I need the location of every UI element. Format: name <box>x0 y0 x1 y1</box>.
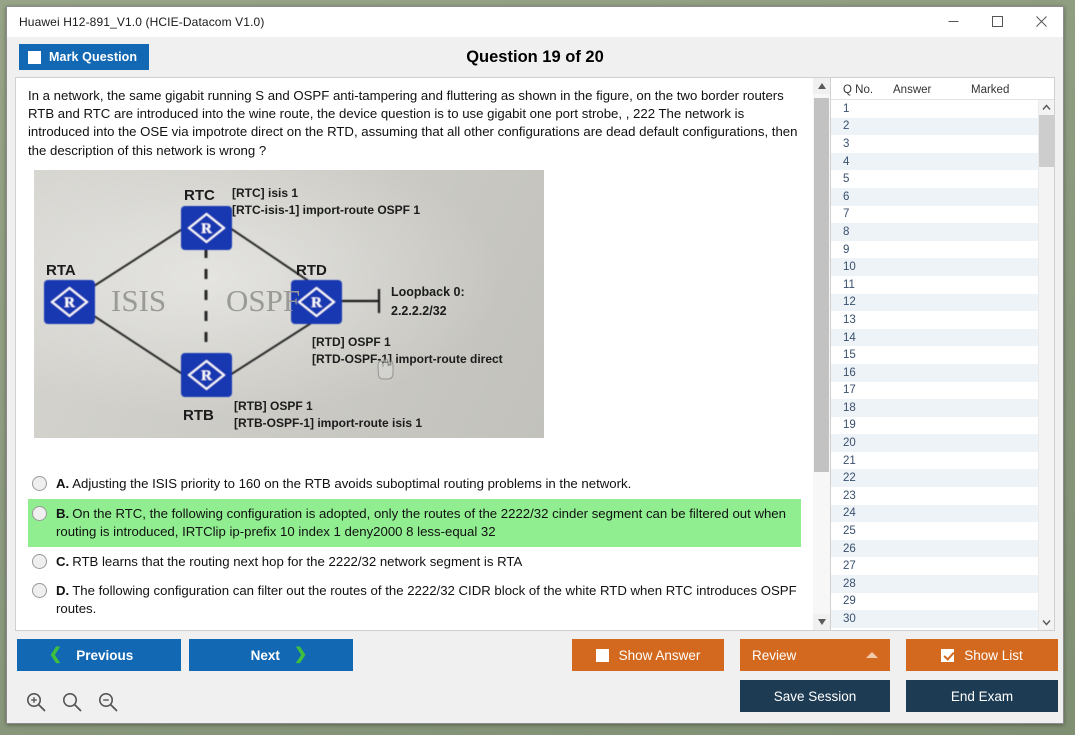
close-icon[interactable] <box>1019 7 1063 37</box>
cell-qno: 17 <box>831 384 893 396</box>
option-b-text: B.On the RTC, the following configuratio… <box>56 505 797 541</box>
option-b-letter: B. <box>56 506 69 521</box>
option-a-radio[interactable] <box>32 476 47 491</box>
cell-qno: 20 <box>831 437 893 449</box>
cell-qno: 25 <box>831 525 893 537</box>
option-d[interactable]: D.The following configuration can filter… <box>28 576 801 624</box>
show-list-stack: Show List End Exam <box>906 639 1058 712</box>
table-row[interactable]: 1 <box>831 100 1038 118</box>
cell-qno: 26 <box>831 543 893 555</box>
show-answer-button[interactable]: Show Answer <box>572 639 724 671</box>
list-scrollbar-track[interactable] <box>1039 115 1054 615</box>
table-row[interactable]: 20 <box>831 434 1038 452</box>
show-answer-label: Show Answer <box>619 648 701 663</box>
table-row[interactable]: 24 <box>831 505 1038 523</box>
table-row[interactable]: 18 <box>831 399 1038 417</box>
option-b-body: On the RTC, the following configuration … <box>56 506 786 539</box>
scroll-up-icon[interactable] <box>813 78 830 94</box>
table-row[interactable]: 9 <box>831 241 1038 259</box>
option-d-radio[interactable] <box>32 583 47 598</box>
list-scrollbar-thumb[interactable] <box>1039 115 1054 167</box>
cell-qno: 24 <box>831 507 893 519</box>
question-list-panel: Q No. Answer Marked 12345678910111213141… <box>830 77 1055 631</box>
zoom-controls <box>25 691 119 713</box>
diagram-loopback-line2: 2.2.2.2/32 <box>391 304 447 318</box>
option-a-body: Adjusting the ISIS priority to 160 on th… <box>72 476 631 491</box>
show-answer-checkbox-icon[interactable] <box>596 649 609 662</box>
show-list-label: Show List <box>964 648 1023 663</box>
cell-qno: 8 <box>831 226 893 238</box>
diagram-config-rtb-line2: [RTB-OSPF-1] import-route isis 1 <box>234 416 422 430</box>
table-row[interactable]: 16 <box>831 364 1038 382</box>
scrollbar-track[interactable] <box>813 94 830 614</box>
table-row[interactable]: 27 <box>831 557 1038 575</box>
chevron-up-icon <box>866 652 878 658</box>
question-list-scrollbar[interactable] <box>1038 100 1054 630</box>
maximize-icon[interactable] <box>975 7 1019 37</box>
option-c-body: RTB learns that the routing next hop for… <box>72 554 522 569</box>
scrollbar-thumb[interactable] <box>814 98 829 472</box>
cell-qno: 22 <box>831 472 893 484</box>
option-a-text: A.Adjusting the ISIS priority to 160 on … <box>56 475 797 493</box>
cell-qno: 9 <box>831 244 893 256</box>
table-row[interactable]: 14 <box>831 329 1038 347</box>
cell-qno: 3 <box>831 138 893 150</box>
table-row[interactable]: 12 <box>831 294 1038 312</box>
review-label: Review <box>752 648 796 663</box>
question-list-header: Q No. Answer Marked <box>831 78 1054 100</box>
diagram-label-rtb: RTB <box>183 407 214 424</box>
cell-qno: 29 <box>831 595 893 607</box>
column-header-marked: Marked <box>971 84 1054 96</box>
window-title: Huawei H12-891_V1.0 (HCIE-Datacom V1.0) <box>7 15 264 29</box>
table-row[interactable]: 29 <box>831 593 1038 611</box>
svg-text:R: R <box>64 295 75 311</box>
option-a[interactable]: A.Adjusting the ISIS priority to 160 on … <box>28 469 801 499</box>
table-row[interactable]: 21 <box>831 452 1038 470</box>
exam-window: Huawei H12-891_V1.0 (HCIE-Datacom V1.0) … <box>6 6 1064 724</box>
zoom-in-icon[interactable] <box>25 691 47 713</box>
list-scroll-up-icon[interactable] <box>1039 100 1054 115</box>
table-row[interactable]: 5 <box>831 170 1038 188</box>
option-b[interactable]: B.On the RTC, the following configuratio… <box>28 499 801 547</box>
save-session-button[interactable]: Save Session <box>740 680 890 712</box>
end-exam-label: End Exam <box>951 689 1013 704</box>
table-row[interactable]: 17 <box>831 382 1038 400</box>
table-row[interactable]: 28 <box>831 575 1038 593</box>
show-list-checkbox-icon[interactable] <box>941 649 954 662</box>
cell-qno: 19 <box>831 419 893 431</box>
diagram-label-rtd: RTD <box>296 262 327 279</box>
table-row[interactable]: 3 <box>831 135 1038 153</box>
table-row[interactable]: 7 <box>831 206 1038 224</box>
table-row[interactable]: 30 <box>831 610 1038 628</box>
option-c-text: C.RTB learns that the routing next hop f… <box>56 553 797 571</box>
cell-qno: 12 <box>831 296 893 308</box>
cell-qno: 23 <box>831 490 893 502</box>
diagram-config-rtb-line1: [RTB] OSPF 1 <box>234 399 313 413</box>
hand-cursor-artifact <box>378 359 393 379</box>
diagram-loopback-line1: Loopback 0: <box>391 285 465 299</box>
table-row[interactable]: 4 <box>831 153 1038 171</box>
option-c[interactable]: C.RTB learns that the routing next hop f… <box>28 547 801 577</box>
cell-qno: 1 <box>831 103 893 115</box>
answer-options: A.Adjusting the ISIS priority to 160 on … <box>16 469 813 630</box>
table-row[interactable]: 15 <box>831 346 1038 364</box>
table-row[interactable]: 22 <box>831 469 1038 487</box>
zoom-reset-icon[interactable] <box>61 691 83 713</box>
table-row[interactable]: 25 <box>831 522 1038 540</box>
review-stack: Review Save Session <box>740 639 890 712</box>
cell-qno: 13 <box>831 314 893 326</box>
diagram-config-rtc-line2: [RTC-isis-1] import-route OSPF 1 <box>232 203 420 217</box>
cell-qno: 5 <box>831 173 893 185</box>
mark-question-button[interactable]: Mark Question <box>19 44 149 70</box>
table-row[interactable]: 10 <box>831 258 1038 276</box>
table-row[interactable]: 23 <box>831 487 1038 505</box>
cell-qno: 2 <box>831 120 893 132</box>
cell-qno: 18 <box>831 402 893 414</box>
previous-button[interactable]: ❮ Previous <box>17 639 181 671</box>
end-exam-button[interactable]: End Exam <box>906 680 1058 712</box>
show-answer-stack: Show Answer <box>572 639 724 712</box>
cell-qno: 28 <box>831 578 893 590</box>
diagram-config-rtc-line1: [RTC] isis 1 <box>232 186 298 200</box>
cell-qno: 15 <box>831 349 893 361</box>
footer-action-cluster: Show Answer Review Save Session Show Lis… <box>572 639 1058 712</box>
diagram-label-rtc: RTC <box>184 187 215 204</box>
column-header-qno: Q No. <box>831 84 893 96</box>
cell-qno: 4 <box>831 156 893 168</box>
review-dropdown-button[interactable]: Review <box>740 639 890 671</box>
footer-bar: ❮ Previous Next ❯ Show Answer Review <box>7 631 1063 723</box>
question-text: In a network, the same gigabit running S… <box>28 87 801 160</box>
previous-label: Previous <box>76 648 133 663</box>
cell-qno: 11 <box>831 279 893 291</box>
table-row[interactable]: 11 <box>831 276 1038 294</box>
next-label: Next <box>251 648 280 663</box>
svg-text:R: R <box>201 221 212 237</box>
column-header-answer: Answer <box>893 84 971 96</box>
cell-qno: 7 <box>831 208 893 220</box>
title-bar: Huawei H12-891_V1.0 (HCIE-Datacom V1.0) <box>7 7 1063 37</box>
chevron-right-icon: ❯ <box>294 647 307 663</box>
cell-qno: 27 <box>831 560 893 572</box>
table-row[interactable]: 19 <box>831 417 1038 435</box>
network-diagram-svg: R R R <box>34 170 544 438</box>
option-c-radio[interactable] <box>32 554 47 569</box>
cell-qno: 14 <box>831 332 893 344</box>
table-row[interactable]: 26 <box>831 540 1038 558</box>
zoom-out-icon[interactable] <box>97 691 119 713</box>
page-title: Question 19 of 20 <box>7 48 1063 67</box>
option-d-letter: D. <box>56 583 69 598</box>
body-area: In a network, the same gigabit running S… <box>7 77 1063 631</box>
cell-qno: 16 <box>831 367 893 379</box>
network-diagram-image: R R R <box>34 170 544 438</box>
diagram-label-rta: RTA <box>46 262 76 279</box>
diagram-config-rtd-line2: [RTD-OSPF-1] import-route direct <box>312 352 503 366</box>
svg-text:R: R <box>201 368 212 384</box>
svg-text:R: R <box>311 295 322 311</box>
header-bar: Mark Question Question 19 of 20 <box>7 37 1063 77</box>
table-row[interactable]: 8 <box>831 223 1038 241</box>
next-button[interactable]: Next ❯ <box>189 639 353 671</box>
table-row[interactable]: 13 <box>831 311 1038 329</box>
mark-question-checkbox-icon[interactable] <box>28 51 41 64</box>
option-b-radio[interactable] <box>32 506 47 521</box>
option-d-body: The following configuration can filter o… <box>56 583 797 616</box>
question-list-rows: 1234567891011121314151617181920212223242… <box>831 100 1038 630</box>
show-list-button[interactable]: Show List <box>906 639 1058 671</box>
option-d-text: D.The following configuration can filter… <box>56 582 797 618</box>
scroll-down-icon[interactable] <box>813 614 830 630</box>
diagram-label-isis: ISIS <box>111 283 166 318</box>
option-a-letter: A. <box>56 476 69 491</box>
question-pane: In a network, the same gigabit running S… <box>15 77 813 631</box>
mark-question-label: Mark Question <box>49 50 137 64</box>
option-c-letter: C. <box>56 554 69 569</box>
diagram-label-ospf: OSPF <box>226 283 300 318</box>
question-content: In a network, the same gigabit running S… <box>16 78 813 469</box>
diagram-config-rtd-line1: [RTD] OSPF 1 <box>312 335 391 349</box>
minimize-icon[interactable] <box>931 7 975 37</box>
save-session-label: Save Session <box>774 689 857 704</box>
question-pane-scrollbar[interactable] <box>813 77 830 631</box>
cell-qno: 10 <box>831 261 893 273</box>
cell-qno: 30 <box>831 613 893 625</box>
table-row[interactable]: 2 <box>831 118 1038 136</box>
question-list-body: 1234567891011121314151617181920212223242… <box>831 100 1054 630</box>
table-row[interactable]: 6 <box>831 188 1038 206</box>
cell-qno: 21 <box>831 455 893 467</box>
chevron-left-icon: ❮ <box>49 647 62 663</box>
cell-qno: 6 <box>831 191 893 203</box>
list-scroll-down-icon[interactable] <box>1039 615 1054 630</box>
